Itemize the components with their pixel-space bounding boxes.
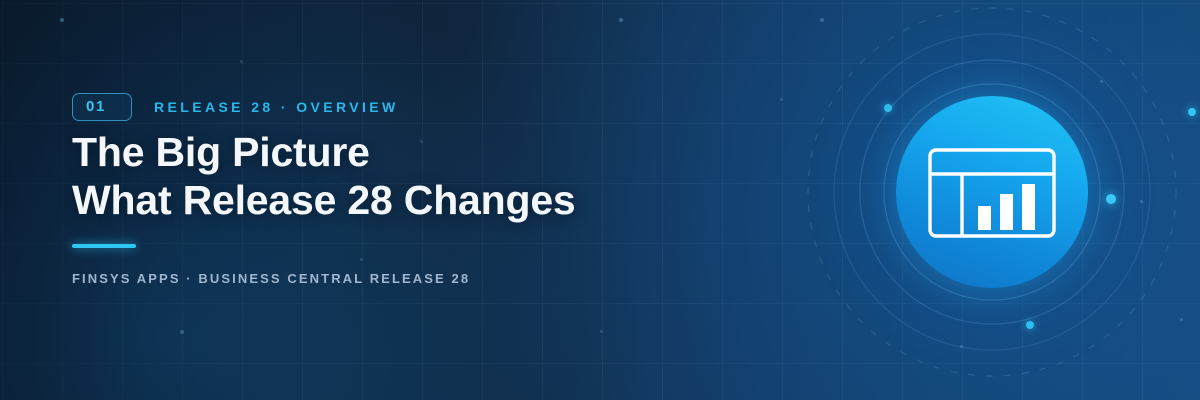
eyebrow-label: RELEASE 28 · OVERVIEW bbox=[154, 99, 399, 115]
dashboard-bar-chart-icon bbox=[928, 148, 1056, 238]
background-dot bbox=[960, 345, 963, 348]
slide-content: 01 RELEASE 28 · OVERVIEW The Big Picture… bbox=[72, 0, 772, 400]
section-number-badge: 01 bbox=[72, 93, 132, 121]
title-line-1: The Big Picture bbox=[72, 128, 576, 176]
accent-dot bbox=[1188, 108, 1196, 116]
footnote-label: FINSYS APPS · BUSINESS CENTRAL RELEASE 2… bbox=[72, 271, 470, 286]
accent-dot bbox=[1106, 194, 1116, 204]
bar-2 bbox=[1000, 194, 1013, 230]
accent-dot bbox=[884, 104, 892, 112]
accent-dot bbox=[1026, 321, 1034, 329]
title-line-2: What Release 28 Changes bbox=[72, 176, 576, 224]
accent-underline bbox=[72, 244, 136, 248]
background-dot bbox=[60, 18, 64, 22]
page-title: The Big Picture What Release 28 Changes bbox=[72, 128, 576, 224]
background-dot bbox=[780, 98, 783, 101]
bar-3 bbox=[1022, 184, 1035, 230]
title-slide: 01 RELEASE 28 · OVERVIEW The Big Picture… bbox=[0, 0, 1200, 400]
background-dot bbox=[1180, 318, 1183, 321]
background-dot bbox=[1140, 200, 1143, 203]
background-dot bbox=[1100, 80, 1103, 83]
eyebrow-row: 01 RELEASE 28 · OVERVIEW bbox=[72, 93, 399, 121]
bar-1 bbox=[978, 206, 991, 230]
background-dot bbox=[820, 18, 824, 22]
